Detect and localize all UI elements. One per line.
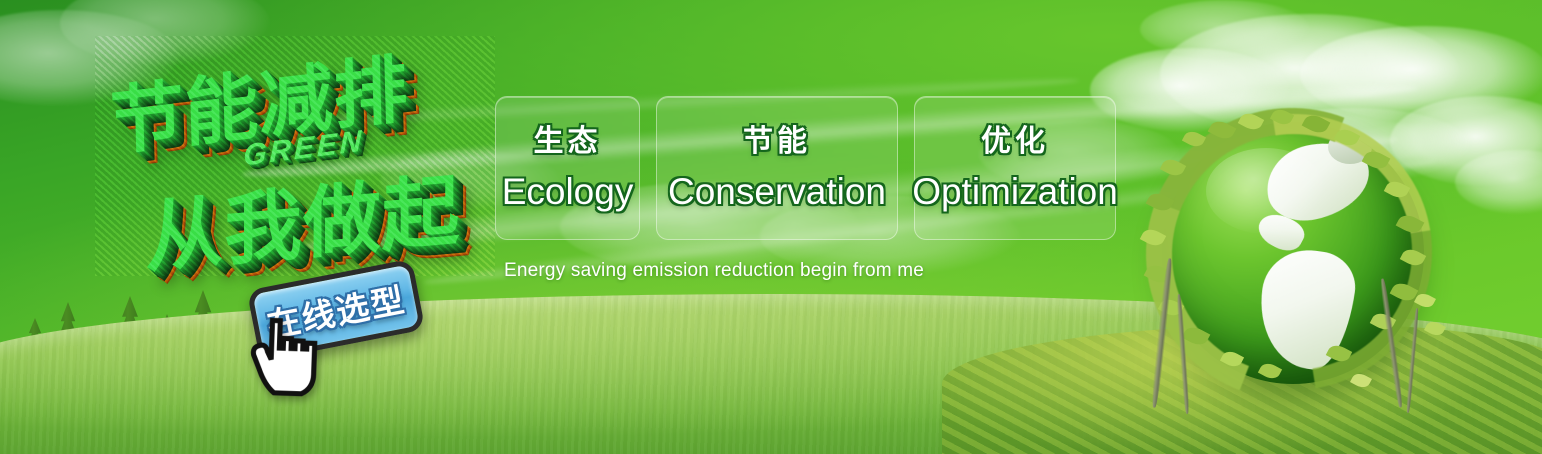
feature-card-en-label: Optimization xyxy=(912,173,1118,210)
feature-card-optimization[interactable]: 优化 Optimization xyxy=(914,96,1116,240)
feature-card-cn-label: 节能 xyxy=(743,127,811,157)
leafy-globe-icon xyxy=(1140,108,1440,418)
feature-card-cn-label: 生态 xyxy=(534,127,602,157)
banner-tagline: Energy saving emission reduction begin f… xyxy=(504,260,924,282)
feature-card-list: 生态 Ecology 节能 Conservation 优化 Optimizati… xyxy=(495,96,1116,240)
feature-card-en-label: Ecology xyxy=(502,173,634,210)
feature-card-ecology[interactable]: 生态 Ecology xyxy=(495,96,640,240)
eco-promo-banner: 节能减排 GREEN 从我做起 在线选型 生态 Ecology 节能 Conse… xyxy=(0,0,1542,454)
feature-card-conservation[interactable]: 节能 Conservation xyxy=(656,96,898,240)
hand-pointer-icon xyxy=(242,312,325,401)
feature-card-cn-label: 优化 xyxy=(981,127,1049,157)
feature-card-en-label: Conservation xyxy=(668,173,886,210)
